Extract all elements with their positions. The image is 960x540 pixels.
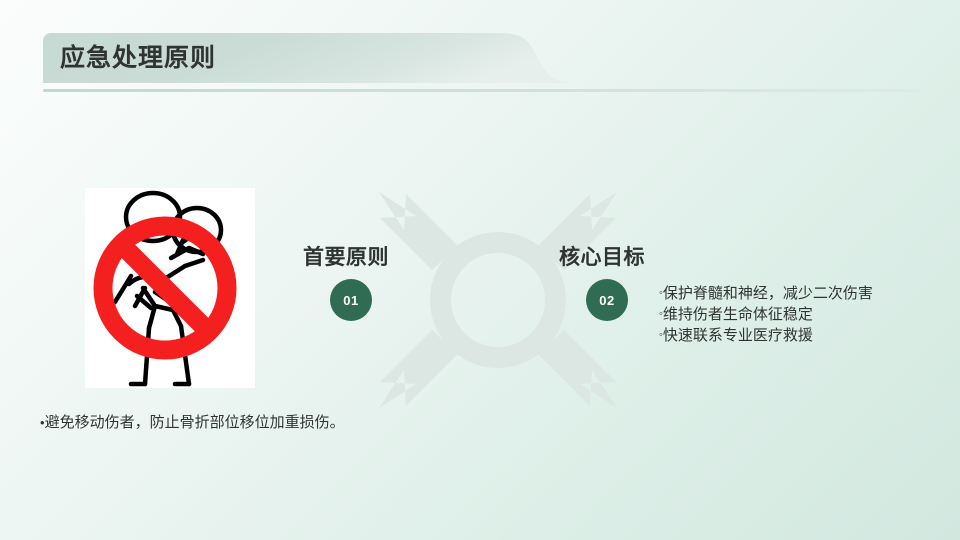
bullet-list-core-goals: ◦保护脊髓和神经，减少二次伤害 ◦维持伤者生命体征稳定 ◦快速联系专业医疗救援 xyxy=(659,283,949,346)
column-heading-01: 首要原则 xyxy=(303,241,389,271)
illustration-panel xyxy=(85,188,255,388)
list-item-text: 维持伤者生命体征稳定 xyxy=(663,306,813,323)
page-title: 应急处理原则 xyxy=(60,39,216,77)
title-divider xyxy=(43,89,919,92)
list-item: ◦快速联系专业医疗救援 xyxy=(659,325,949,346)
title-bar: 应急处理原则 xyxy=(43,33,643,83)
bullet-list-primary-principle: •避免移动伤者，防止骨折部位移位加重损伤。 xyxy=(40,411,370,434)
list-item: ◦保护脊髓和神经，减少二次伤害 xyxy=(659,283,949,304)
no-move-injured-person-illustration xyxy=(85,188,255,388)
list-item-text: 避免移动伤者，防止骨折部位移位加重损伤。 xyxy=(45,414,345,431)
number-badge-02: 02 xyxy=(586,279,628,321)
list-item: ◦维持伤者生命体征稳定 xyxy=(659,304,949,325)
slide-canvas: 应急处理原则 xyxy=(0,0,960,540)
column-heading-02: 核心目标 xyxy=(559,241,645,271)
number-badge-01: 01 xyxy=(330,279,372,321)
list-item-text: 快速联系专业医疗救援 xyxy=(663,327,813,344)
list-item-text: 保护脊髓和神经，减少二次伤害 xyxy=(663,285,873,302)
list-item: •避免移动伤者，防止骨折部位移位加重损伤。 xyxy=(40,411,370,434)
